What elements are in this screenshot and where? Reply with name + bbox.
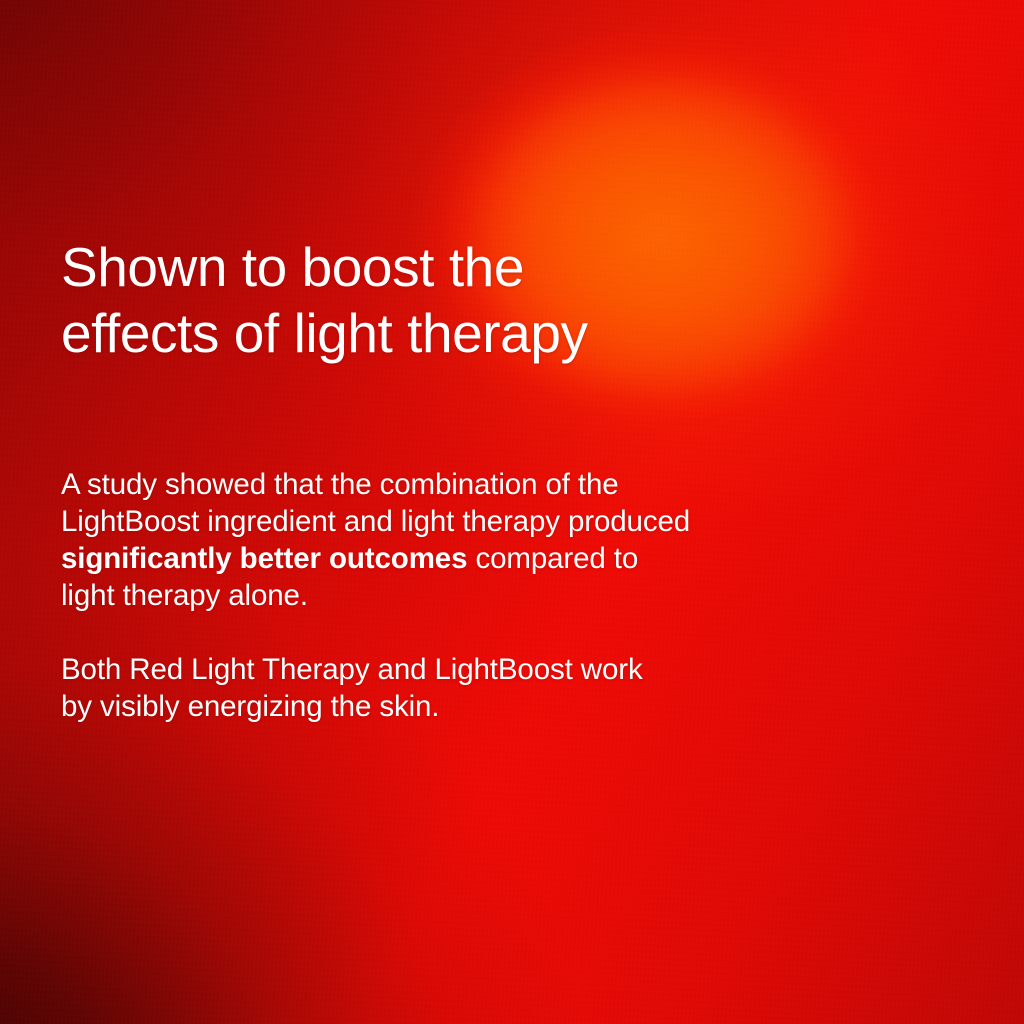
headline: Shown to boost the effects of light ther… — [61, 234, 588, 366]
slide-content: Shown to boost the effects of light ther… — [0, 0, 1024, 1024]
paragraph-mechanism: Both Red Light Therapy and LightBoost wo… — [61, 651, 851, 725]
promo-slide: Shown to boost the effects of light ther… — [0, 0, 1024, 1024]
body-copy: A study showed that the combination of t… — [61, 466, 851, 725]
paragraph-lead-text: A study showed that the combination of t… — [61, 468, 690, 538]
paragraph-study-result: A study showed that the combination of t… — [61, 466, 851, 614]
emphasis-text: significantly better outcomes — [61, 542, 467, 575]
